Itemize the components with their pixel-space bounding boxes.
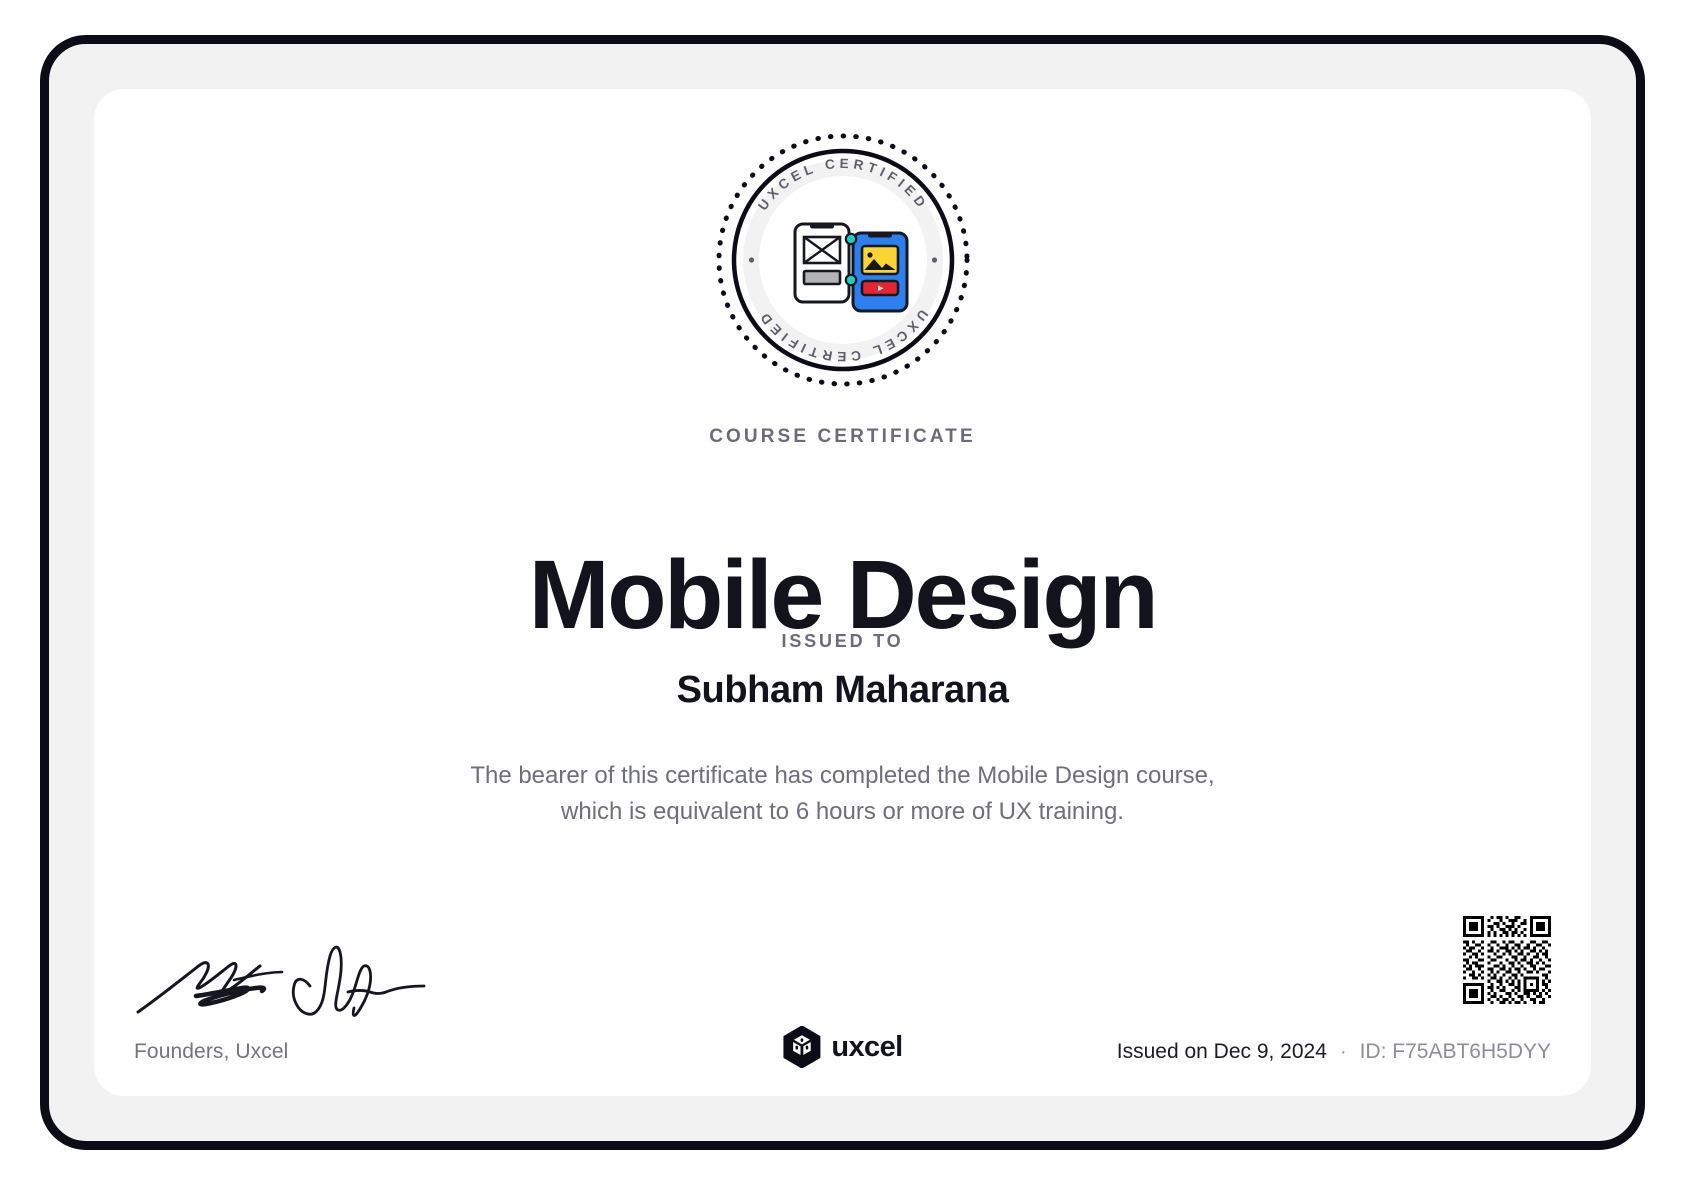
certificate-frame: UXCEL CERTIFIED UXCEL CERTIFIED: [40, 35, 1645, 1150]
qr-code-icon[interactable]: [1463, 916, 1551, 1004]
recipient-name: Subham Maharana: [94, 669, 1591, 712]
uxcel-brand-logo: uxcel: [782, 1026, 902, 1068]
uxcel-hexagon-icon: [782, 1026, 820, 1068]
certificate-description: The bearer of this certificate has compl…: [94, 758, 1591, 830]
issue-metadata: Issued on Dec 9, 2024 · ID: F75ABT6H5DYY: [1117, 1040, 1551, 1064]
verification-qr-code[interactable]: [1463, 916, 1551, 1004]
brand-name: uxcel: [831, 1033, 902, 1062]
description-line-1: The bearer of this certificate has compl…: [94, 758, 1591, 794]
certificate-card: UXCEL CERTIFIED UXCEL CERTIFIED: [94, 89, 1591, 1096]
certificate-type-label: COURSE CERTIFICATE: [94, 426, 1591, 448]
issue-date: Issued on Dec 9, 2024: [1117, 1040, 1327, 1063]
description-line-2: which is equivalent to 6 hours or more o…: [94, 794, 1591, 830]
certificate-id: ID: F75ABT6H5DYY: [1360, 1040, 1551, 1063]
uxcel-certified-badge: UXCEL CERTIFIED UXCEL CERTIFIED: [712, 129, 974, 391]
meta-separator: ·: [1333, 1040, 1354, 1063]
issued-to-label: ISSUED TO: [94, 631, 1591, 652]
badge-seal-icon: UXCEL CERTIFIED UXCEL CERTIFIED: [712, 129, 974, 391]
founders-label: Founders, Uxcel: [134, 1040, 288, 1064]
founder-signatures: [134, 928, 454, 1018]
certificate-footer: Founders, Uxcel uxcel: [94, 876, 1591, 1096]
signature-icon: [134, 928, 434, 1018]
